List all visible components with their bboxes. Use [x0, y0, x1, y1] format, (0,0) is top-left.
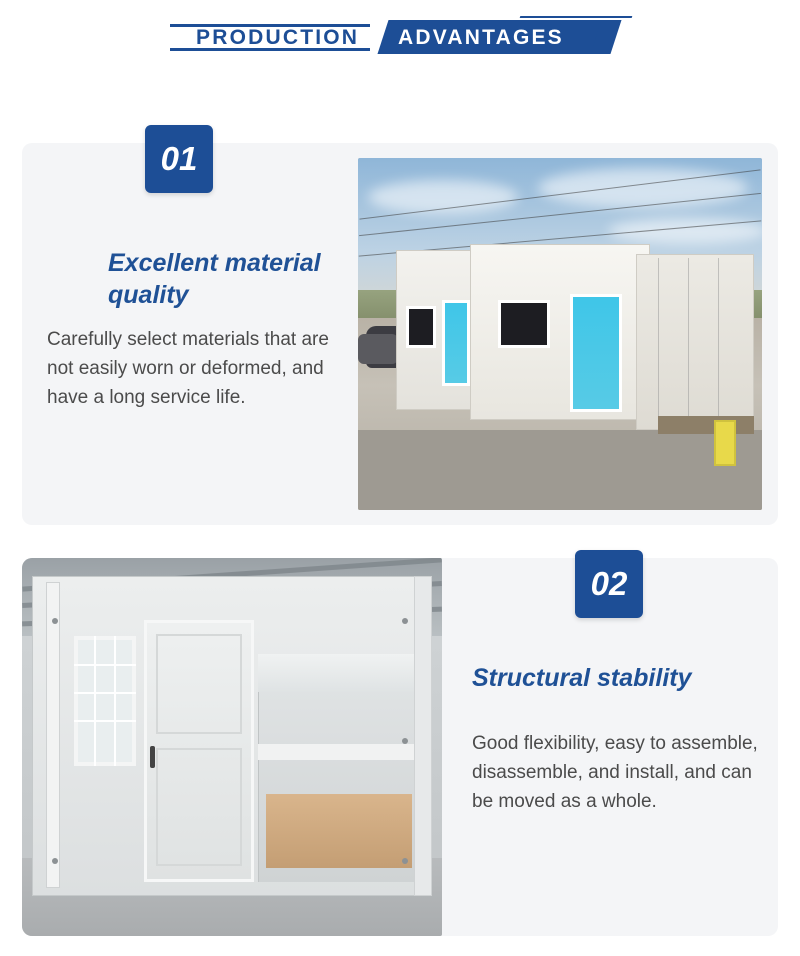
- advantage-heading-2: Structural stability: [472, 663, 772, 695]
- advantage-image-2: [22, 558, 442, 936]
- banner-title-secondary: ADVANTAGES: [398, 26, 564, 50]
- banner-accent-line: [520, 16, 633, 18]
- advantage-number-badge-1: 01: [145, 125, 213, 193]
- header-banner: PRODUCTION ADVANTAGES: [0, 10, 800, 58]
- production-advantages-page: PRODUCTION ADVANTAGES: [0, 0, 800, 956]
- advantage-heading-1: Excellent material quality: [108, 248, 368, 311]
- banner-title-primary: PRODUCTION: [196, 26, 359, 50]
- advantage-body-2: Good flexibility, easy to assemble, disa…: [472, 730, 762, 817]
- advantage-number-badge-2: 02: [575, 550, 643, 618]
- advantage-image-1: [358, 158, 762, 510]
- advantage-body-1: Carefully select materials that are not …: [47, 326, 347, 413]
